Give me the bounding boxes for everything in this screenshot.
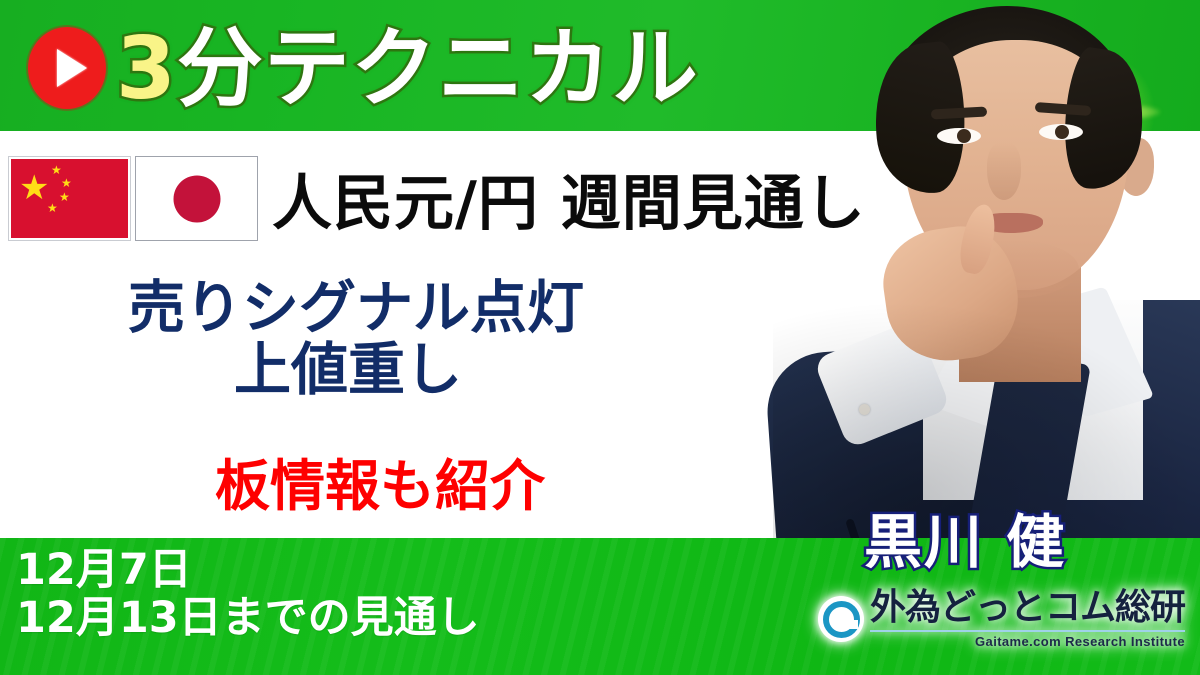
gaitame-g-bar [838, 621, 855, 628]
japan-flag-sun [173, 175, 220, 222]
china-flag-star-small-4: ★ [47, 202, 58, 214]
brand-name-jp: 外為どっとコム総研 [870, 590, 1185, 626]
main-headline-line-2: 上値重し [0, 339, 700, 401]
china-flag: ★ ★ ★ ★ ★ [8, 156, 131, 241]
thumbnail-canvas: 3分テクニカル ★ ★ ★ ★ ★ 人民元/円 週間見通し 売りシグナル点灯 上… [0, 0, 1200, 675]
china-flag-star-small-1: ★ [51, 164, 62, 176]
forecast-period: 12月7日 12月13日までの見通し [16, 546, 480, 642]
brand-logo-text: 外為どっとコム総研 Gaitame.com Research Institute [870, 590, 1185, 648]
gaitame-g-icon [818, 596, 864, 642]
lens-flare-core-decoration [1068, 96, 1120, 126]
gaitame-g-ring [823, 601, 860, 638]
presenter-name: 黒川 健 [864, 508, 1066, 576]
japan-flag [135, 156, 258, 241]
show-title-number: 3 [116, 19, 177, 119]
china-flag-star-small-2: ★ [61, 177, 72, 189]
forecast-date-line-2: 12月13日までの見通し [16, 594, 480, 642]
play-triangle-icon [57, 49, 87, 87]
china-flag-star-large: ★ [19, 171, 49, 205]
main-headline-line-1: 売りシグナル点灯 [12, 277, 700, 339]
show-title: 3分テクニカル [116, 10, 699, 128]
china-flag-star-small-3: ★ [59, 191, 70, 203]
flag-pair: ★ ★ ★ ★ ★ [8, 156, 258, 241]
main-headline: 売りシグナル点灯 上値重し [0, 277, 700, 401]
play-button-icon[interactable] [28, 27, 106, 109]
show-title-rest: 分テクニカル [177, 19, 699, 119]
highlight-headline: 板情報も紹介 [0, 455, 760, 517]
currency-pair-title: 人民元/円 週間見通し [272, 167, 866, 241]
brand-name-en: Gaitame.com Research Institute [870, 630, 1185, 648]
top-banner: 3分テクニカル [0, 0, 1200, 131]
brand-logo[interactable]: 外為どっとコム総研 Gaitame.com Research Institute [818, 590, 1185, 648]
lens-flare-decoration [1040, 104, 1160, 120]
forecast-date-line-1: 12月7日 [16, 546, 480, 594]
